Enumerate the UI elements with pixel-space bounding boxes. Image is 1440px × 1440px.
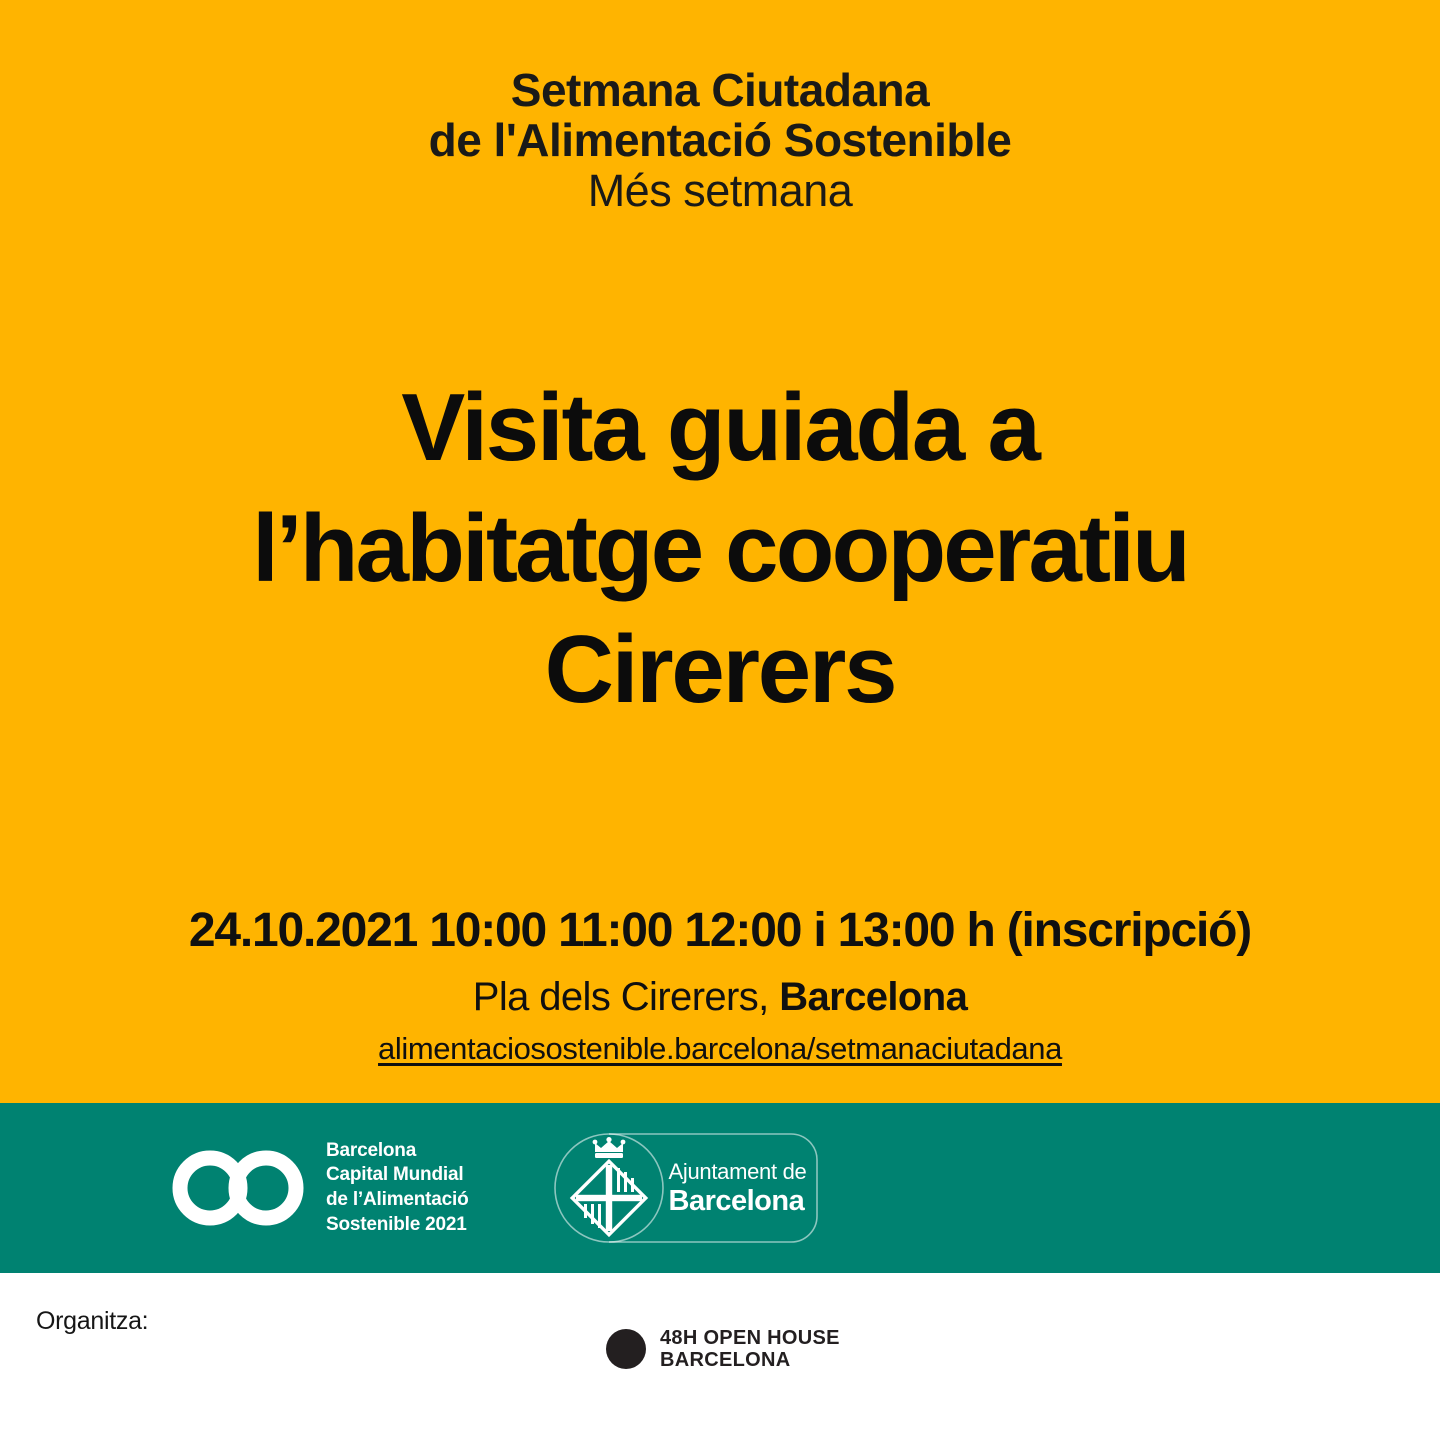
open-house-line-2: BARCELONA bbox=[660, 1349, 840, 1371]
black-circle-icon bbox=[606, 1329, 646, 1369]
hero-panel: Setmana Ciutadana de l'Alimentació Soste… bbox=[0, 0, 1440, 1103]
barcelona-capital-mundial-wordmark: Barcelona Capital Mundial de l’Alimentac… bbox=[326, 1139, 469, 1238]
event-datetime: 24.10.2021 10:00 11:00 12:00 i 13:00 h (… bbox=[0, 903, 1440, 959]
headline-line-1: Visita guiada a bbox=[0, 368, 1440, 489]
open-house-barcelona-logo: 48H OPEN HOUSE BARCELONA bbox=[606, 1327, 840, 1372]
event-details: 24.10.2021 10:00 11:00 12:00 i 13:00 h (… bbox=[0, 903, 1440, 1069]
eyebrow-line-2: de l'Alimentació Sostenible bbox=[0, 116, 1440, 166]
headline-line-3: Cirerers bbox=[0, 610, 1440, 731]
open-house-wordmark: 48H OPEN HOUSE BARCELONA bbox=[660, 1327, 840, 1372]
bcm-line-3: de l’Alimentació bbox=[326, 1188, 469, 1213]
headline-line-2: l’habitatge cooperatiu bbox=[0, 489, 1440, 610]
ajuntament-line-1: Ajuntament de bbox=[669, 1159, 807, 1185]
organiser-label: Organitza: bbox=[36, 1307, 148, 1336]
sponsor-logo-group: Barcelona Capital Mundial de l’Alimentac… bbox=[168, 1103, 831, 1273]
bcm-line-2: Capital Mundial bbox=[326, 1163, 469, 1188]
sponsor-logo-band: Barcelona Capital Mundial de l’Alimentac… bbox=[0, 1103, 1440, 1273]
open-house-line-1: 48H OPEN HOUSE bbox=[660, 1327, 840, 1349]
eyebrow-line-1: Setmana Ciutadana bbox=[0, 66, 1440, 116]
eyebrow-line-3: Més setmana bbox=[0, 167, 1440, 216]
infinity-icon bbox=[168, 1149, 308, 1227]
bcm-line-1: Barcelona bbox=[326, 1139, 469, 1164]
event-location-city: Barcelona bbox=[779, 975, 967, 1019]
event-poster: Setmana Ciutadana de l'Alimentació Soste… bbox=[0, 0, 1440, 1440]
ajuntament-line-2: Barcelona bbox=[669, 1185, 807, 1219]
ajuntament-wordmark: Ajuntament de Barcelona bbox=[669, 1159, 807, 1218]
event-location: Pla dels Cirerers, Barcelona bbox=[0, 971, 1440, 1023]
event-url-link[interactable]: alimentaciosostenible.barcelona/setmanac… bbox=[0, 1029, 1440, 1069]
ajuntament-de-barcelona-logo: Ajuntament de Barcelona bbox=[541, 1132, 831, 1244]
barcelona-coat-of-arms-icon bbox=[557, 1136, 661, 1240]
organiser-band: Organitza: 48H OPEN HOUSE BARCELONA bbox=[0, 1273, 1440, 1440]
barcelona-capital-mundial-logo: Barcelona Capital Mundial de l’Alimentac… bbox=[168, 1139, 469, 1238]
page-title: Visita guiada a l’habitatge cooperatiu C… bbox=[0, 368, 1440, 731]
bcm-line-4: Sostenible 2021 bbox=[326, 1213, 469, 1238]
campaign-eyebrow: Setmana Ciutadana de l'Alimentació Soste… bbox=[0, 66, 1440, 216]
event-location-street: Pla dels Cirerers, bbox=[473, 975, 779, 1019]
